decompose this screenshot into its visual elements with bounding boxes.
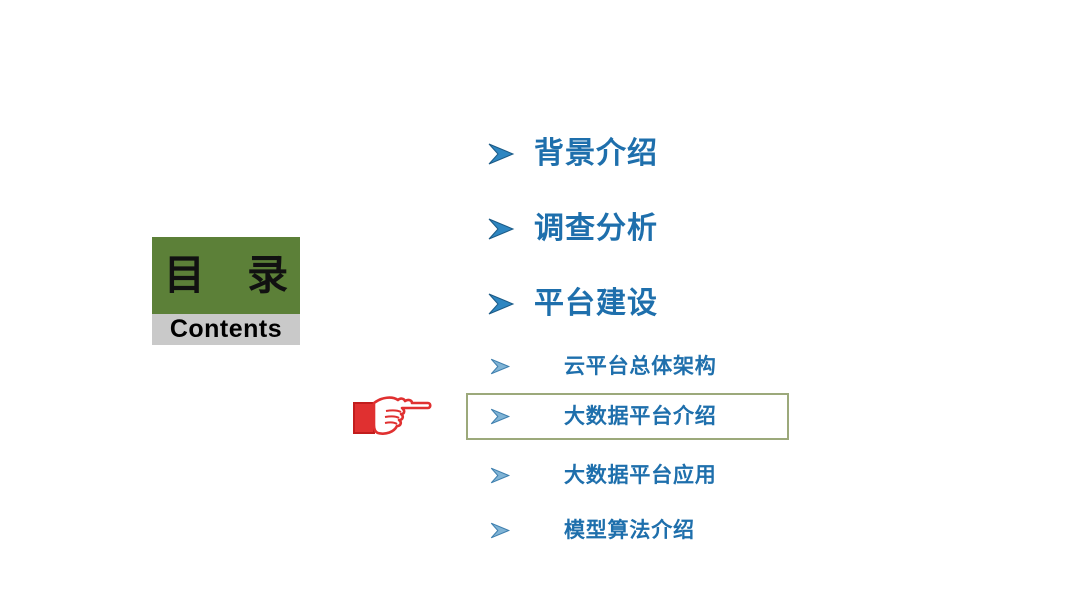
contents-title-cn: 目 录 <box>150 255 302 296</box>
outline-sub-item-3[interactable]: 大数据平台应用 <box>489 465 717 486</box>
arrow-bullet-icon <box>486 216 534 242</box>
contents-logo-gray-band: Contents <box>152 314 300 345</box>
outline-sub-item-1-label: 云平台总体架构 <box>564 356 717 377</box>
outline-sub-item-4-label: 模型算法介绍 <box>564 520 695 541</box>
slide-canvas: 目 录 Contents 背景介绍 <box>0 0 1080 608</box>
contents-logo-green-band: 目 录 <box>152 237 300 314</box>
outline-main-item-1[interactable]: 背景介绍 <box>486 139 658 169</box>
arrow-bullet-icon <box>489 521 564 540</box>
pointing-hand-icon <box>352 391 432 443</box>
outline-main-item-2-label: 调查分析 <box>534 214 658 244</box>
arrow-bullet-icon <box>489 357 564 376</box>
arrow-bullet-icon <box>486 291 534 317</box>
arrow-bullet-icon <box>489 466 564 485</box>
outline-sub-item-4[interactable]: 模型算法介绍 <box>489 520 695 541</box>
arrow-bullet-icon <box>486 141 534 167</box>
contents-logo: 目 录 Contents <box>152 237 300 345</box>
outline-main-item-1-label: 背景介绍 <box>534 139 658 169</box>
outline-sub-item-2-label: 大数据平台介绍 <box>564 406 717 427</box>
contents-title-en: Contents <box>170 317 282 342</box>
arrow-bullet-icon <box>489 407 564 426</box>
outline-sub-item-1[interactable]: 云平台总体架构 <box>489 356 717 377</box>
outline-sub-item-2[interactable]: 大数据平台介绍 <box>489 406 717 427</box>
outline-main-item-3[interactable]: 平台建设 <box>486 289 658 319</box>
outline-main-item-3-label: 平台建设 <box>534 289 658 319</box>
outline-main-item-2[interactable]: 调查分析 <box>486 214 658 244</box>
outline-sub-item-3-label: 大数据平台应用 <box>564 465 717 486</box>
